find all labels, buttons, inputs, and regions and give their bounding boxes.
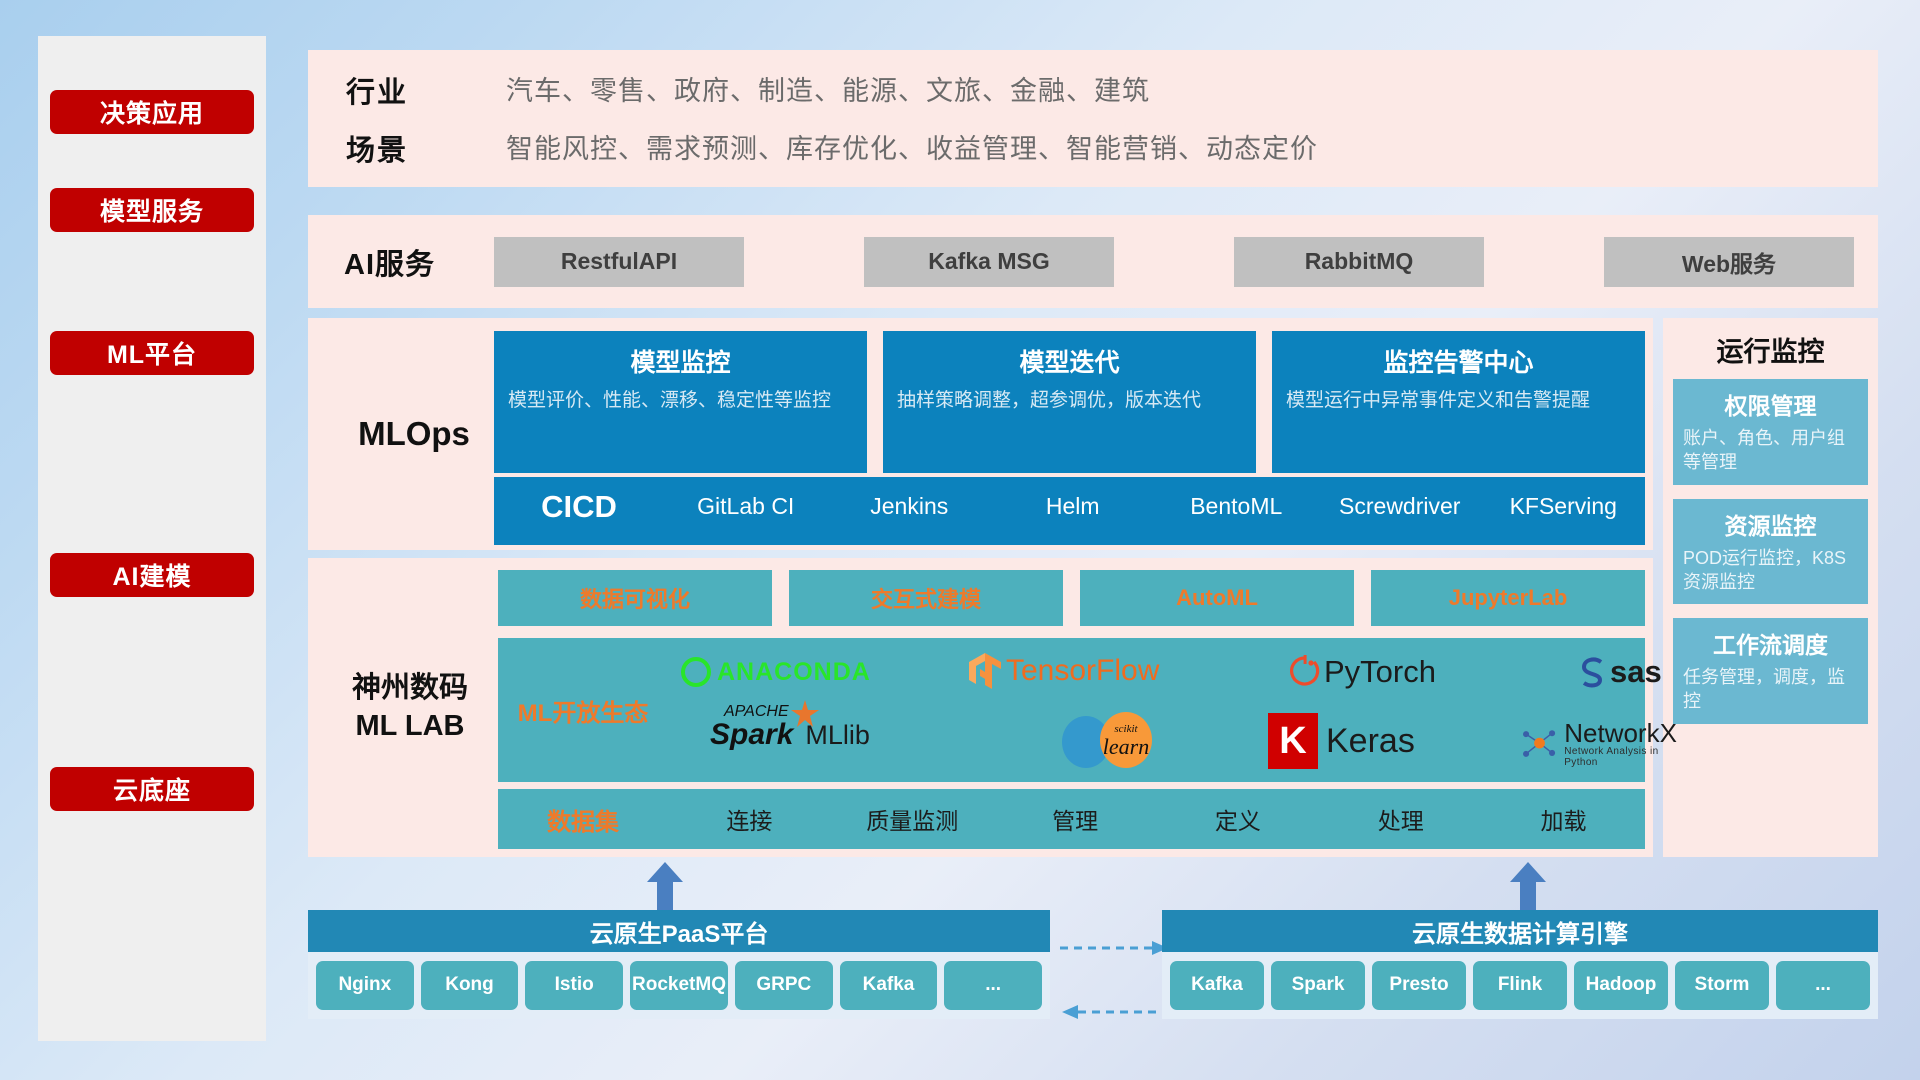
pytorch-logo: PyTorch	[1290, 654, 1436, 690]
anaconda-label: ANACONDA	[717, 658, 871, 687]
ai-modeling-panel: 神州数码 ML LAB 数据可视化 交互式建模 AutoML JupyterLa…	[308, 558, 1653, 857]
paas-platform-title: 云原生PaaS平台	[308, 910, 1050, 952]
monitor-card-permission[interactable]: 权限管理 账户、角色、用户组等管理	[1673, 379, 1868, 485]
tool-chip-data-visualization[interactable]: 数据可视化	[498, 570, 772, 626]
chip-label: Kafka MSG	[928, 248, 1049, 275]
architecture-diagram: 决策应用 模型服务 ML平台 AI建模 云底座 行业 汽车、零售、政府、制造、能…	[0, 0, 1920, 1080]
rail-item-cloud-base[interactable]: 云底座	[50, 767, 254, 811]
apache-label: APACHE	[724, 703, 789, 721]
mlops-label: MLOps	[334, 318, 494, 550]
left-rail: 决策应用 模型服务 ML平台 AI建模 云底座	[38, 36, 266, 1041]
networkx-label: NetworkX	[1564, 720, 1681, 746]
card-desc: 模型评价、性能、漂移、稳定性等监控	[508, 388, 853, 414]
sas-label: sas	[1610, 654, 1662, 690]
engine-chip-flink[interactable]: Flink	[1473, 961, 1567, 1010]
monitor-card-workflow[interactable]: 工作流调度 任务管理，调度，监控	[1673, 618, 1868, 724]
mlops-panel: MLOps 模型监控 模型评价、性能、漂移、稳定性等监控 模型迭代 抽样策略调整…	[308, 318, 1653, 550]
ai-service-chip-restfulapi[interactable]: RestfulAPI	[494, 237, 744, 287]
cicd-title: CICD	[494, 477, 664, 525]
cicd-item-jenkins[interactable]: Jenkins	[828, 477, 992, 521]
engine-chip-hadoop[interactable]: Hadoop	[1574, 961, 1668, 1010]
engine-chip-more[interactable]: ...	[1776, 961, 1870, 1010]
arrow-up-paas-icon	[645, 862, 685, 912]
keras-logo: K Keras	[1268, 713, 1415, 769]
card-desc: 任务管理，调度，监控	[1683, 665, 1858, 714]
chip-label: RabbitMQ	[1305, 248, 1414, 275]
dataset-label: 数据集	[498, 802, 668, 837]
arrow-left-dashed-icon	[1060, 1002, 1170, 1022]
industry-label: 行业	[346, 69, 506, 111]
mlops-card-alert-center[interactable]: 监控告警中心 模型运行中异常事件定义和告警提醒	[1272, 331, 1645, 473]
engine-chip-storm[interactable]: Storm	[1675, 961, 1769, 1010]
networkx-tagline: Network Analysis in Python	[1564, 746, 1681, 768]
ai-service-chip-web[interactable]: Web服务	[1604, 237, 1854, 287]
data-engine-title: 云原生数据计算引擎	[1162, 910, 1878, 952]
ai-service-label: AI服务	[344, 241, 494, 283]
tensorflow-label: TensorFlow	[1006, 654, 1159, 688]
scikit-learn-icon: scikit learn	[1056, 712, 1166, 770]
rail-label: 云底座	[113, 771, 191, 807]
industry-value: 汽车、零售、政府、制造、能源、文旅、金融、建筑	[506, 69, 1878, 111]
spark-mllib-logo: APACHE Spark MLlib	[710, 718, 870, 752]
modeling-tool-row: 数据可视化 交互式建模 AutoML JupyterLab	[498, 570, 1645, 626]
keras-mark-icon: K	[1268, 713, 1318, 769]
sas-icon	[1578, 656, 1608, 688]
cicd-item-bentoml[interactable]: BentoML	[1155, 477, 1319, 521]
runtime-monitor-panel: 运行监控 权限管理 账户、角色、用户组等管理 资源监控 POD运行监控，K8S资…	[1663, 318, 1878, 857]
tensorflow-icon	[968, 652, 1002, 690]
paas-chip-kong[interactable]: Kong	[421, 961, 519, 1010]
rail-item-ai-modeling[interactable]: AI建模	[50, 553, 254, 597]
card-title: 资源监控	[1683, 507, 1858, 541]
card-desc: 模型运行中异常事件定义和告警提醒	[1286, 388, 1631, 414]
paas-chip-more[interactable]: ...	[944, 961, 1042, 1010]
dataset-item-quality[interactable]: 质量监测	[831, 802, 994, 836]
chip-label: Web服务	[1682, 245, 1776, 279]
tool-chip-interactive-modeling[interactable]: 交互式建模	[789, 570, 1063, 626]
paas-chip-istio[interactable]: Istio	[525, 961, 623, 1010]
networkx-logo: NetworkX Network Analysis in Python	[1518, 720, 1682, 768]
keras-label: Keras	[1326, 722, 1415, 761]
card-desc: POD运行监控，K8S资源监控	[1683, 546, 1858, 595]
ai-service-chip-kafka-msg[interactable]: Kafka MSG	[864, 237, 1114, 287]
rail-item-model-service[interactable]: 模型服务	[50, 188, 254, 232]
card-title: 权限管理	[1683, 387, 1858, 421]
dataset-item-load[interactable]: 加载	[1482, 802, 1645, 836]
rail-label: ML平台	[107, 335, 197, 371]
chip-label: RestfulAPI	[561, 248, 677, 275]
paas-chip-grpc[interactable]: GRPC	[735, 961, 833, 1010]
paas-chip-nginx[interactable]: Nginx	[316, 961, 414, 1010]
mlops-card-model-iteration[interactable]: 模型迭代 抽样策略调整，超参调优，版本迭代	[883, 331, 1256, 473]
dataset-item-connect[interactable]: 连接	[668, 802, 831, 836]
arrow-up-data-engine-icon	[1508, 862, 1548, 912]
industry-scenario-panel: 行业 汽车、零售、政府、制造、能源、文旅、金融、建筑 场景 智能风控、需求预测、…	[308, 50, 1878, 187]
svg-text:learn: learn	[1103, 734, 1149, 759]
pytorch-label: PyTorch	[1324, 654, 1436, 690]
sas-logo: sas	[1578, 654, 1662, 690]
tensorflow-logo: TensorFlow	[968, 652, 1159, 690]
spark-label: Spark	[710, 718, 793, 752]
card-desc: 账户、角色、用户组等管理	[1683, 426, 1858, 475]
ai-service-chip-rabbitmq[interactable]: RabbitMQ	[1234, 237, 1484, 287]
engine-chip-spark[interactable]: Spark	[1271, 961, 1365, 1010]
tool-chip-jupyterlab[interactable]: JupyterLab	[1371, 570, 1645, 626]
pytorch-icon	[1290, 655, 1320, 689]
anaconda-icon	[680, 656, 712, 688]
scenario-value: 智能风控、需求预测、库存优化、收益管理、智能营销、动态定价	[506, 127, 1878, 169]
card-title: 监控告警中心	[1286, 343, 1631, 379]
rail-item-decision[interactable]: 决策应用	[50, 90, 254, 134]
dataset-item-manage[interactable]: 管理	[994, 802, 1157, 836]
card-title: 模型监控	[508, 343, 853, 379]
ml-ecosystem-label: ML开放生态	[498, 693, 668, 728]
rail-label: 决策应用	[100, 94, 204, 130]
cicd-item-screwdriver[interactable]: Screwdriver	[1318, 477, 1482, 521]
spark-star-icon	[790, 699, 820, 729]
paas-chip-kafka[interactable]: Kafka	[840, 961, 938, 1010]
paas-chip-rocketmq[interactable]: RocketMQ	[630, 961, 728, 1010]
monitor-title: 运行监控	[1663, 318, 1878, 379]
cicd-bar: CICD GitLab CI Jenkins Helm BentoML Scre…	[494, 477, 1645, 545]
engine-chip-kafka[interactable]: Kafka	[1170, 961, 1264, 1010]
cicd-item-helm[interactable]: Helm	[991, 477, 1155, 521]
ml-lab-line1: 神州数码	[352, 670, 468, 708]
rail-label: 模型服务	[100, 192, 204, 228]
rail-item-ml-platform[interactable]: ML平台	[50, 331, 254, 375]
anaconda-logo: ANACONDA	[680, 656, 871, 688]
dataset-item-process[interactable]: 处理	[1319, 802, 1482, 836]
data-engine-block: 云原生数据计算引擎 Kafka Spark Presto Flink Hadoo…	[1162, 910, 1878, 1019]
networkx-icon	[1518, 723, 1559, 765]
scikit-learn-logo: scikit learn	[1056, 712, 1166, 770]
dataset-band: 数据集 连接 质量监测 管理 定义 处理 加载	[498, 789, 1645, 849]
cicd-item-kfserving[interactable]: KFServing	[1482, 477, 1646, 521]
card-title: 模型迭代	[897, 343, 1242, 379]
card-title: 工作流调度	[1683, 626, 1858, 660]
card-desc: 抽样策略调整，超参调优，版本迭代	[897, 388, 1242, 414]
ml-lab-line2: ML LAB	[355, 708, 464, 746]
paas-platform-block: 云原生PaaS平台 Nginx Kong Istio RocketMQ GRPC…	[308, 910, 1050, 1019]
arrow-right-dashed-icon	[1060, 938, 1170, 958]
ai-service-panel: AI服务 RestfulAPI Kafka MSG RabbitMQ Web服务	[308, 215, 1878, 308]
dataset-item-define[interactable]: 定义	[1156, 802, 1319, 836]
engine-chip-presto[interactable]: Presto	[1372, 961, 1466, 1010]
ml-ecosystem-band: ML开放生态 ANACONDA T	[498, 638, 1645, 782]
ml-lab-label: 神州数码 ML LAB	[322, 558, 498, 857]
monitor-card-resource[interactable]: 资源监控 POD运行监控，K8S资源监控	[1673, 499, 1868, 605]
scenario-label: 场景	[346, 127, 506, 169]
mlops-card-model-monitoring[interactable]: 模型监控 模型评价、性能、漂移、稳定性等监控	[494, 331, 867, 473]
tool-chip-automl[interactable]: AutoML	[1080, 570, 1354, 626]
cicd-item-gitlab-ci[interactable]: GitLab CI	[664, 477, 828, 521]
rail-label: AI建模	[112, 557, 191, 593]
